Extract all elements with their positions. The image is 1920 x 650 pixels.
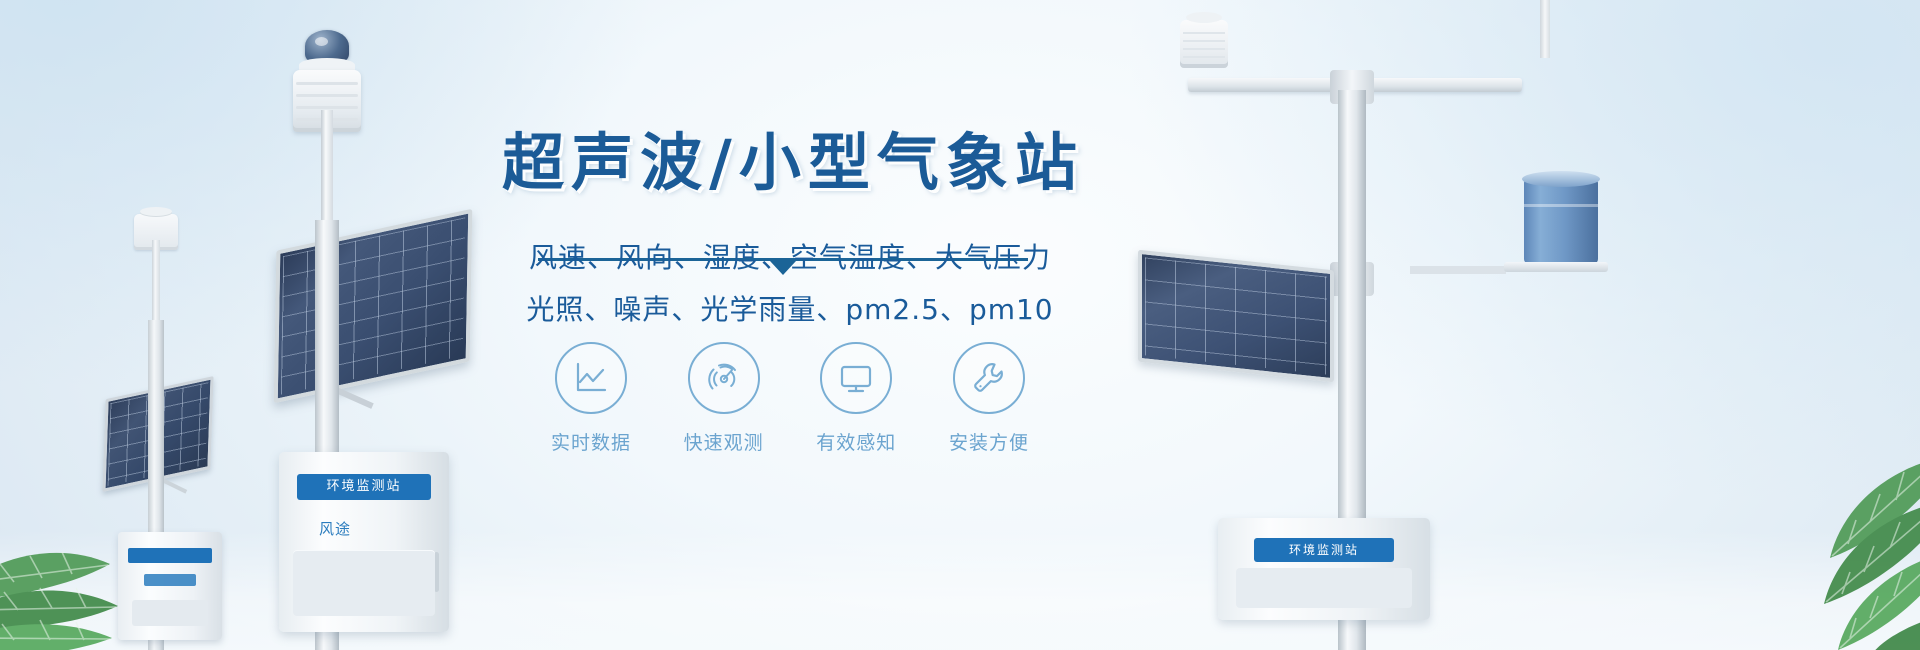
rain-gauge-rim [1522,171,1600,187]
feature-item-fast-observation[interactable]: 快速观测 [668,342,780,455]
feature-item-easy-install[interactable]: 安装方便 [933,342,1045,455]
product-banner: 环境监测站 风途 环境监测站 [0,0,1920,650]
ultrasonic-wind-sensor-icon [1180,20,1228,68]
tropical-leaf-right-icon [1690,430,1920,650]
feature-label: 快速观测 [668,428,780,455]
feature-label: 安装方便 [933,428,1045,455]
solar-panel [1138,250,1334,383]
station-cross-mast-right: 环境监测站 [1170,30,1590,650]
cabinet-label-text: 环境监测站 [297,476,431,498]
brand-logo-text: 风途 [319,520,351,538]
feature-icon-circle [688,342,760,414]
feature-item-effective-sensing[interactable]: 有效感知 [800,342,912,455]
rain-gauge-icon [1524,178,1598,264]
feature-icon-circle [953,342,1025,414]
feature-item-realtime-data[interactable]: 实时数据 [535,342,647,455]
equipment-cabinet: 环境监测站 [1218,518,1430,620]
subtitle-line-1: 风速、风向、湿度、空气温度、大气压力 [440,236,1140,276]
brand-logo: 风途 [319,518,411,538]
cabinet-label-text: 环境监测站 [1254,540,1394,560]
equipment-shelf [1504,262,1608,272]
equipment-cabinet: 环境监测站 风途 [279,452,449,632]
shelf-arm [1410,266,1506,274]
tropical-leaf-left-icon [0,460,200,650]
wrench-icon [969,358,1009,398]
feature-label: 有效感知 [800,428,912,455]
cabinet-door [1236,568,1412,608]
monitor-screen-icon [836,358,876,398]
banner-content: 超声波/小型气象站 风速、风向、湿度、空气温度、大气压力 光照、噪声、光学雨量、… [440,0,1140,650]
wind-vane-icon [1540,0,1550,58]
feature-icon-circle [820,342,892,414]
page-title: 超声波/小型气象站 [448,112,1138,202]
cabinet-door [293,550,435,616]
feature-list: 实时数据 快速观测 [535,342,1045,455]
line-chart-icon [571,358,611,398]
feature-icon-circle [555,342,627,414]
subtitle-line-2: 光照、噪声、光学雨量、pm2.5、pm10 [440,288,1140,328]
feature-label: 实时数据 [535,428,647,455]
radar-sensor-icon [704,358,744,398]
